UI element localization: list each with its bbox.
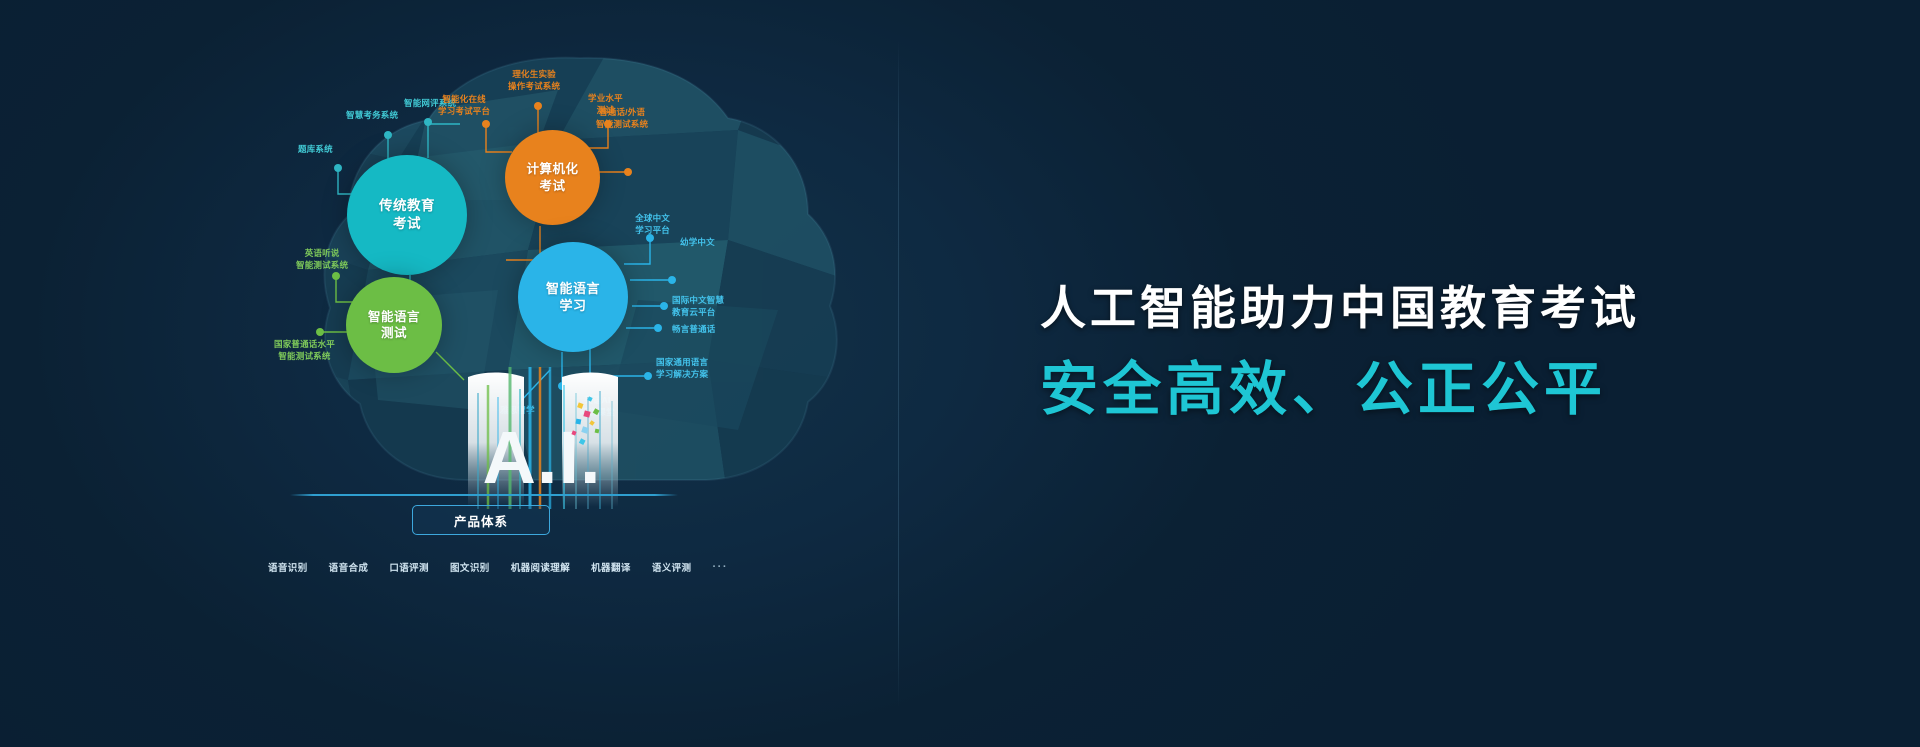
headline-secondary: 安全高效、公正公平 [1040, 357, 1740, 424]
headline-block: 人工智能助力中国教育考试 安全高效、公正公平 [1040, 282, 1740, 424]
capability-tag-row: 语音识别 语音合成 口语评测 图文识别 机器阅读理解 机器翻译 语义评测 ··· [268, 560, 728, 574]
leaf-label-online-learning-exam-platform: 智能化在线 学习考试平台 [438, 93, 490, 118]
baseline-rule [290, 494, 678, 496]
tag-speech-recognition[interactable]: 语音识别 [268, 560, 308, 574]
leaf-label-global-chinese-learning-platform: 全球中文 学习平台 [598, 212, 670, 237]
tag-oral-evaluation[interactable]: 口语评测 [389, 560, 429, 574]
tag-image-text-recognition[interactable]: 图文识别 [450, 560, 490, 574]
leaf-label-changyan-mandarin: 畅言普通话 [672, 323, 716, 335]
tag-speech-synthesis[interactable]: 语音合成 [329, 560, 369, 574]
node-computerized-label-1: 计算机化 [526, 161, 578, 178]
ai-education-illustration: 传统教育 考试 计算机化 考试 智能语言 测试 智能语言 学习 智慧考务系统 [250, 12, 910, 747]
leaf-label-lab-operation-exam-system: 理化生实验 操作考试系统 [508, 68, 560, 93]
tag-machine-reading-comprehension[interactable]: 机器阅读理解 [511, 560, 570, 574]
node-smart-test-label-1: 智能语言 [368, 309, 420, 326]
leaf-label-mandarin-foreign-language-test-system: 普通话/外语 智能测试系统 [596, 106, 648, 131]
banner-stage: 传统教育 考试 计算机化 考试 智能语言 测试 智能语言 学习 智慧考务系统 [0, 0, 1920, 747]
node-computerized-exam[interactable]: 计算机化 考试 [505, 130, 600, 225]
node-smart-language-learning[interactable]: 智能语言 学习 [518, 242, 628, 352]
node-smart-test-label-2: 测试 [368, 325, 420, 342]
leaf-label-international-chinese-cloud-platform: 国际中文智慧 教育云平台 [672, 294, 724, 319]
node-computerized-label-2: 考试 [526, 178, 578, 195]
node-traditional-label-2: 考试 [379, 215, 435, 233]
product-system-button[interactable]: 产品体系 [412, 505, 550, 535]
tag-more-ellipsis[interactable]: ··· [713, 561, 729, 573]
leaf-label-national-mandarin-proficiency-test-system: 国家普通话水平 智能测试系统 [274, 338, 335, 363]
node-smart-learn-label-1: 智能语言 [546, 280, 600, 297]
node-traditional-label-1: 传统教育 [379, 197, 435, 215]
headline-primary: 人工智能助力中国教育考试 [1040, 282, 1740, 335]
node-traditional-education-exam[interactable]: 传统教育 考试 [347, 155, 467, 275]
leaf-label-smart-exam-admin: 智慧考务系统 [346, 109, 398, 121]
ai-book-trunk: A.I. [432, 367, 552, 502]
leaf-label-question-bank: 题库系统 [298, 143, 333, 155]
tag-semantic-evaluation[interactable]: 语义评测 [652, 560, 692, 574]
node-smart-learn-label-2: 学习 [546, 297, 600, 314]
node-smart-language-test[interactable]: 智能语言 测试 [346, 277, 442, 373]
leaf-label-young-chinese: 幼学中文 [680, 236, 715, 248]
leaf-label-english-listening-speaking-test-system: 英语听说 智能测试系统 [296, 247, 348, 272]
tag-machine-translation[interactable]: 机器翻译 [591, 560, 631, 574]
product-system-label: 产品体系 [454, 511, 508, 530]
